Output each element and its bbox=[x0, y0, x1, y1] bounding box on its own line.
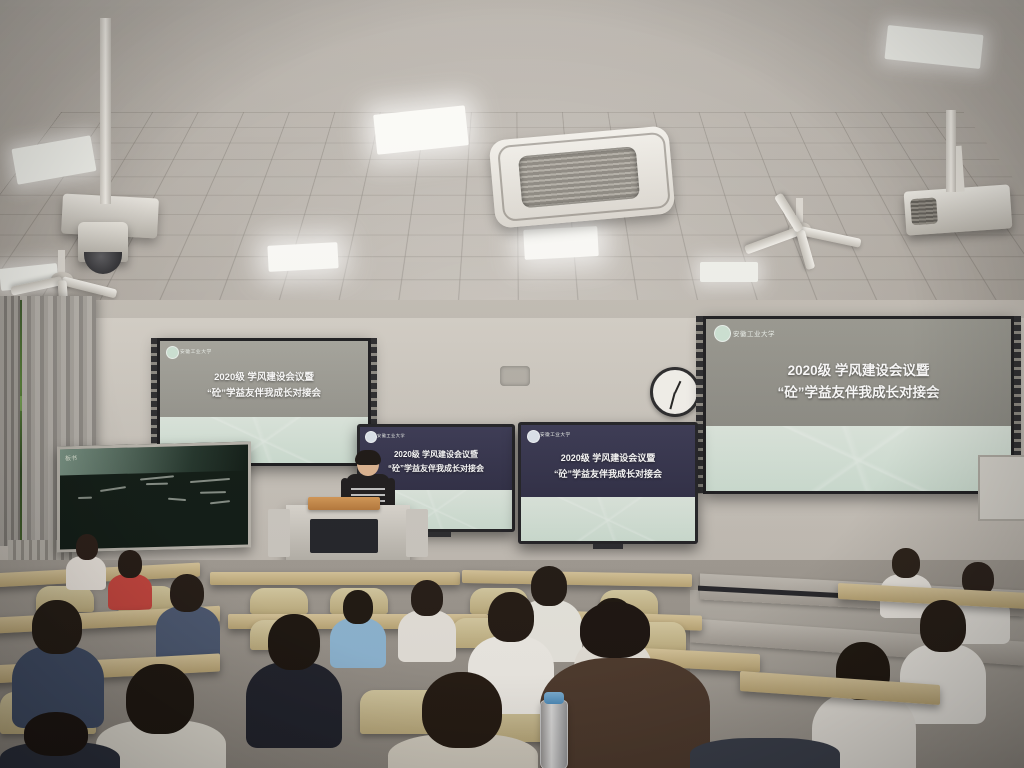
student bbox=[246, 614, 342, 732]
slide-polygon-pattern bbox=[706, 426, 1011, 491]
student-head bbox=[24, 712, 88, 756]
slide-title-line1: 2020级 学风建设会议暨 bbox=[521, 451, 695, 464]
camera-pole bbox=[100, 18, 111, 204]
lectern-monitor[interactable] bbox=[310, 519, 378, 553]
university-name: 安徽工业大学 bbox=[733, 328, 775, 338]
ptz-dome-camera bbox=[78, 222, 128, 262]
student-body bbox=[398, 610, 456, 662]
chalk-mark bbox=[210, 500, 230, 504]
air-conditioner-unit bbox=[489, 125, 676, 228]
chalk-mark bbox=[200, 491, 226, 494]
university-emblem-icon bbox=[365, 431, 377, 443]
clock-hand-hour bbox=[674, 381, 681, 394]
student bbox=[66, 534, 106, 582]
university-name: 安徽工业大学 bbox=[540, 432, 571, 438]
student bbox=[398, 580, 456, 650]
slide-bottom-band: 2022年6月17日 建设工程学院 bbox=[706, 426, 1011, 491]
seat-back bbox=[250, 588, 308, 614]
student-head bbox=[488, 592, 534, 642]
ac-bezel bbox=[497, 132, 671, 222]
slide-title-line2: “砼”学益友伴我成长对接会 bbox=[160, 385, 368, 399]
student-body bbox=[108, 574, 152, 610]
slide-title-line2: “砼”学益友伴我成长对接会 bbox=[521, 467, 695, 480]
clock-hand-minute bbox=[670, 393, 676, 410]
ceiling-light-panel bbox=[523, 226, 598, 260]
chalk-mark bbox=[146, 483, 168, 486]
university-name: 安徽工业大学 bbox=[377, 433, 405, 439]
student-head bbox=[580, 602, 650, 658]
student bbox=[156, 574, 220, 648]
student-body bbox=[246, 662, 342, 748]
student bbox=[108, 550, 152, 602]
projector-right bbox=[904, 184, 1013, 235]
presenter-hair bbox=[355, 450, 381, 465]
student-head bbox=[32, 600, 82, 654]
bottle-cap bbox=[544, 692, 564, 704]
slide-top-band: 安徽工业大学 2020级 学风建设会议暨 “砼”学益友伴我成长对接会 bbox=[160, 341, 368, 417]
projector-pole bbox=[946, 110, 956, 192]
student-head bbox=[170, 574, 204, 612]
right-projection-screen[interactable]: 安徽工业大学 2020级 学风建设会议暨 “砼”学益友伴我成长对接会 2022年… bbox=[703, 316, 1014, 494]
slide-top-band: 安徽工业大学 2020级 学风建设会议暨 “砼”学益友伴我成长对接会 bbox=[521, 425, 695, 497]
slide-bottom-band: 2022年6月17日 建设工程学院 bbox=[521, 497, 695, 541]
board-glare bbox=[60, 445, 248, 476]
student bbox=[690, 718, 840, 768]
student-head bbox=[268, 614, 320, 670]
board-label: 板书 bbox=[65, 453, 77, 462]
wall-speaker bbox=[500, 366, 530, 386]
slide-polygon-pattern bbox=[521, 497, 695, 541]
tv-stand bbox=[593, 544, 623, 549]
wall-whiteboard bbox=[978, 455, 1024, 521]
student bbox=[0, 712, 120, 768]
slide-title-line2: “砼”学益友伴我成长对接会 bbox=[706, 381, 1011, 401]
university-name: 安徽工业大学 bbox=[180, 348, 212, 355]
university-emblem-icon bbox=[166, 346, 179, 359]
chalk-mark bbox=[140, 475, 174, 480]
student-head bbox=[126, 664, 194, 734]
projector-lens-icon bbox=[910, 197, 938, 225]
slide-title-line1: 2020级 学风建设会议暨 bbox=[160, 369, 368, 383]
ceiling-light-panel bbox=[267, 242, 338, 272]
student-head bbox=[343, 590, 373, 624]
student-head bbox=[422, 672, 502, 748]
right-tv-monitor[interactable]: 安徽工业大学 2020级 学风建设会议暨 “砼”学益友伴我成长对接会 2022年… bbox=[518, 422, 698, 544]
student-body bbox=[690, 738, 840, 768]
slide-top-band: 安徽工业大学 2020级 学风建设会议暨 “砼”学益友伴我成长对接会 bbox=[706, 319, 1011, 426]
student bbox=[388, 672, 538, 768]
slide-content: 安徽工业大学 2020级 学风建设会议暨 “砼”学益友伴我成长对接会 2022年… bbox=[521, 425, 695, 541]
ceiling-light-panel bbox=[700, 262, 758, 282]
lecture-hall-photo: 安徽工业大学 2020级 学风建设会议暨 “砼”学益友伴我成长对接会 2022年… bbox=[0, 0, 1024, 768]
lectern-side-right bbox=[406, 509, 428, 557]
student-head bbox=[118, 550, 142, 578]
chalk-mark bbox=[168, 498, 186, 501]
student-head bbox=[76, 534, 98, 560]
university-emblem-icon bbox=[714, 325, 731, 342]
chalk-mark bbox=[100, 486, 126, 492]
slide-content: 安徽工业大学 2020级 学风建设会议暨 “砼”学益友伴我成长对接会 2022年… bbox=[706, 319, 1011, 491]
wall-clock bbox=[650, 367, 700, 417]
chalk-mark bbox=[78, 497, 92, 499]
window-curtain-outer[interactable] bbox=[0, 296, 20, 546]
lectern-side-left bbox=[268, 509, 290, 557]
student bbox=[12, 600, 104, 712]
student-body bbox=[66, 556, 106, 590]
student-head bbox=[920, 600, 966, 652]
water-bottle bbox=[540, 700, 568, 768]
chalk-mark bbox=[190, 478, 230, 483]
slide-title-line1: 2020级 学风建设会议暨 bbox=[706, 359, 1011, 379]
university-emblem-icon bbox=[527, 430, 540, 443]
student-head bbox=[892, 548, 920, 578]
multimedia-lectern[interactable] bbox=[286, 505, 410, 563]
student-head bbox=[411, 580, 443, 616]
lectern-wood-top bbox=[308, 497, 380, 510]
